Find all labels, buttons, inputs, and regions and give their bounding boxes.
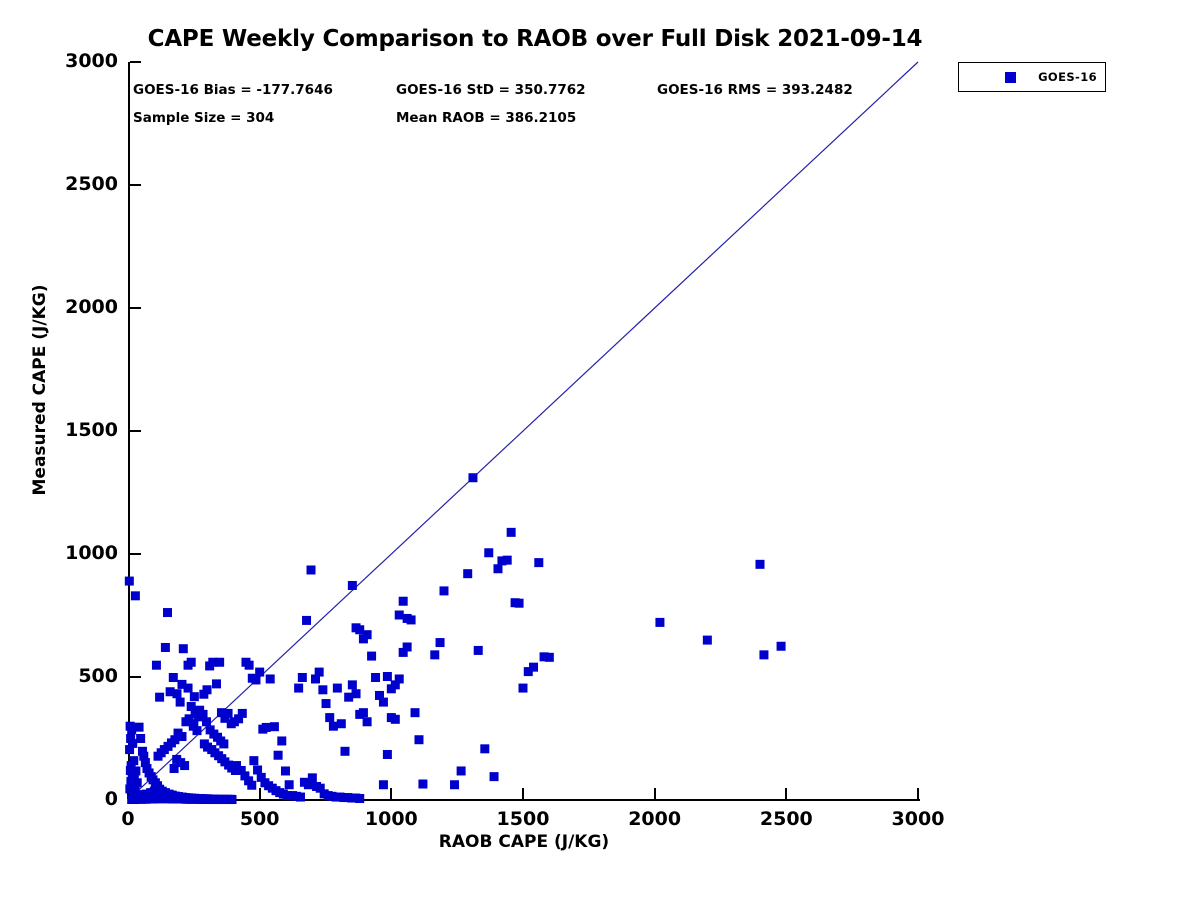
y-axis-label: Measured CAPE (J/KG) — [30, 210, 50, 570]
scatter-point — [193, 709, 202, 718]
scatter-point — [348, 581, 357, 590]
scatter-point — [190, 692, 199, 701]
scatter-point — [274, 751, 283, 760]
scatter-point — [348, 680, 357, 689]
scatter-point — [270, 722, 279, 731]
scatter-point — [298, 673, 307, 682]
scatter-point — [474, 646, 483, 655]
y-tick-label: 3000 — [52, 50, 118, 72]
legend-marker-goes16 — [1005, 72, 1016, 83]
scatter-point — [224, 709, 233, 718]
scatter-point — [125, 745, 134, 754]
scatter-point — [154, 752, 163, 761]
scatter-point — [363, 717, 372, 726]
scatter-point — [480, 744, 489, 753]
scatter-point — [329, 722, 338, 731]
scatter-point — [507, 528, 516, 537]
scatter-point — [367, 652, 376, 661]
scatter-point — [337, 719, 346, 728]
scatter-point — [125, 577, 134, 586]
x-axis-label: RAOB CAPE (J/KG) — [128, 832, 920, 852]
scatter-point — [155, 693, 164, 702]
scatter-point — [407, 615, 416, 624]
scatter-point — [212, 679, 221, 688]
legend-swatch — [1005, 72, 1016, 83]
y-tick-label: 1500 — [52, 419, 118, 441]
scatter-point — [484, 548, 493, 557]
scatter-point — [352, 689, 361, 698]
scatter-point — [529, 663, 538, 672]
scatter-point — [161, 643, 170, 652]
scatter-point — [379, 698, 388, 707]
scatter-point — [238, 709, 247, 718]
scatter-point — [302, 616, 311, 625]
scatter-point — [450, 780, 459, 789]
scatter-point — [383, 672, 392, 681]
scatter-point — [490, 772, 499, 781]
scatter-point — [411, 708, 420, 717]
scatter-point — [655, 618, 664, 627]
scatter-point — [363, 630, 372, 639]
scatter-point — [355, 794, 364, 803]
scatter-point — [179, 644, 188, 653]
scatter-point — [245, 661, 254, 670]
scatter-point — [163, 608, 172, 617]
y-tick-label: 500 — [52, 665, 118, 687]
scatter-point — [131, 591, 140, 600]
scatter-point — [340, 747, 349, 756]
scatter-point — [318, 685, 327, 694]
scatter-point — [184, 684, 193, 693]
scatter-point — [296, 793, 305, 802]
scatter-point — [703, 636, 712, 645]
y-tick-label: 0 — [52, 788, 118, 810]
scatter-point — [170, 764, 179, 773]
scatter-point — [457, 766, 466, 775]
scatter-point — [251, 675, 260, 684]
scatter-point — [430, 650, 439, 659]
scatter-point — [189, 719, 198, 728]
scatter-point — [325, 713, 334, 722]
scatter-points-goes16 — [128, 62, 918, 800]
scatter-point — [226, 795, 235, 804]
scatter-point — [184, 661, 193, 670]
y-tick-label: 2000 — [52, 296, 118, 318]
scatter-point — [172, 689, 181, 698]
scatter-point — [395, 674, 404, 683]
scatter-point — [756, 560, 765, 569]
legend-label-goes16: GOES-16 — [1038, 70, 1097, 84]
scatter-point — [322, 699, 331, 708]
scatter-point — [215, 658, 224, 667]
scatter-point — [307, 565, 316, 574]
scatter-point — [176, 698, 185, 707]
scatter-point — [463, 569, 472, 578]
scatter-point — [383, 750, 392, 759]
scatter-point — [277, 736, 286, 745]
scatter-point — [759, 650, 768, 659]
y-tick-label: 1000 — [52, 542, 118, 564]
scatter-point — [399, 648, 408, 657]
scatter-point — [777, 642, 786, 651]
scatter-point — [436, 638, 445, 647]
x-tick-label: 500 — [200, 808, 320, 830]
scatter-point — [515, 599, 524, 608]
scatter-point — [285, 780, 294, 789]
x-tick-label: 2500 — [726, 808, 846, 830]
scatter-point — [219, 739, 228, 748]
scatter-point — [545, 653, 554, 662]
scatter-point — [180, 761, 189, 770]
x-tick-label: 3000 — [858, 808, 978, 830]
x-tick-label: 2000 — [595, 808, 715, 830]
scatter-point — [294, 684, 303, 693]
scatter-point — [371, 673, 380, 682]
y-tick-label: 2500 — [52, 173, 118, 195]
scatter-point — [136, 734, 145, 743]
scatter-point — [503, 556, 512, 565]
scatter-point — [281, 766, 290, 775]
scatter-point — [135, 723, 144, 732]
x-tick-label: 0 — [68, 808, 188, 830]
scatter-point — [249, 756, 258, 765]
legend: GOES-16 — [958, 62, 1106, 92]
scatter-point — [418, 780, 427, 789]
scatter-point — [152, 661, 161, 670]
scatter-point — [534, 558, 543, 567]
scatter-point — [414, 735, 423, 744]
scatter-point — [169, 673, 178, 682]
scatter-point — [395, 611, 404, 620]
scatter-point — [308, 773, 317, 782]
x-tick-label: 1000 — [331, 808, 451, 830]
scatter-point — [315, 668, 324, 677]
scatter-point — [262, 723, 271, 732]
scatter-point — [359, 708, 368, 717]
scatter-point — [255, 668, 264, 677]
scatter-point — [519, 684, 528, 693]
scatter-point — [333, 684, 342, 693]
scatter-point — [199, 690, 208, 699]
scatter-point — [468, 473, 477, 482]
scatter-point — [387, 713, 396, 722]
scatter-point — [247, 781, 256, 790]
page-title: CAPE Weekly Comparison to RAOB over Full… — [0, 26, 1070, 52]
scatter-point — [232, 761, 241, 770]
scatter-point — [266, 674, 275, 683]
plot-area — [128, 62, 918, 800]
chart-root: CAPE Weekly Comparison to RAOB over Full… — [0, 0, 1200, 900]
scatter-point — [379, 780, 388, 789]
scatter-point — [493, 564, 502, 573]
scatter-point — [399, 597, 408, 606]
x-tick-label: 1500 — [463, 808, 583, 830]
scatter-point — [440, 586, 449, 595]
